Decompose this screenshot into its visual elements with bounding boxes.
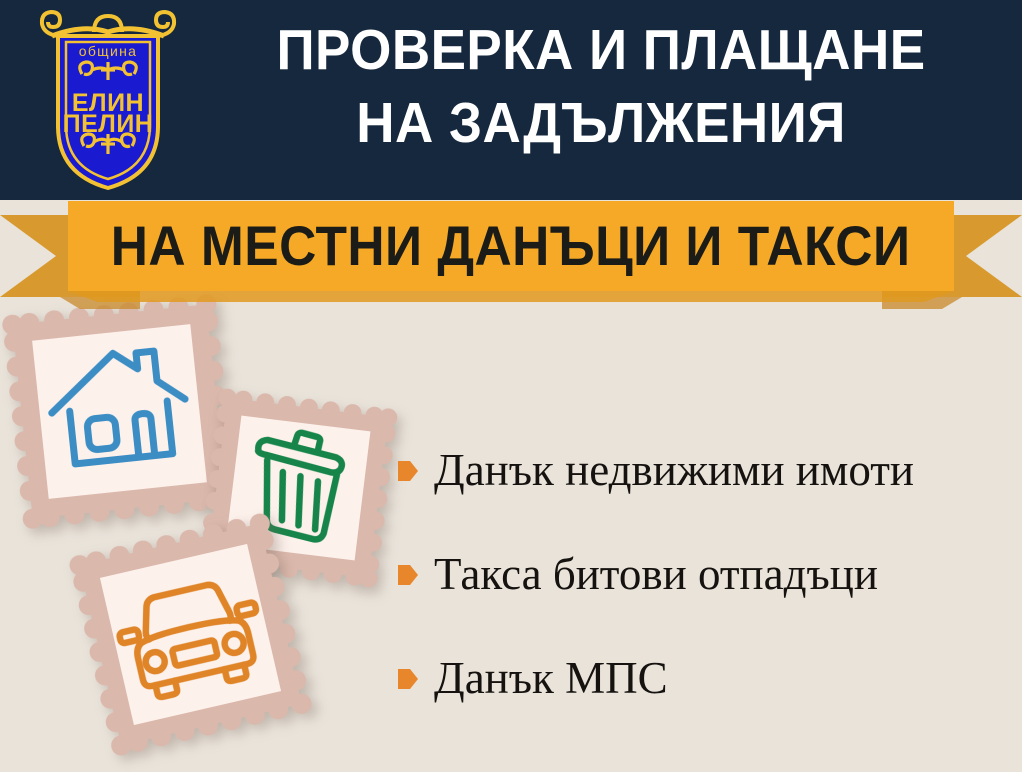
ribbon-text: НА МЕСТНИ ДАНЪЦИ И ТАКСИ bbox=[111, 217, 911, 275]
list-item-label: Данък недвижими имоти bbox=[434, 445, 914, 495]
page-title: ПРОВЕРКА И ПЛАЩАНЕ НА ЗАДЪЛЖЕНИЯ bbox=[224, 14, 977, 160]
list-item[interactable]: Данък МПС bbox=[398, 626, 1018, 730]
arrow-bullet-icon bbox=[398, 667, 418, 691]
coat-of-arms-icon: община ЕЛИН ПЕЛИН bbox=[28, 6, 188, 191]
arrow-bullet-icon bbox=[398, 563, 418, 587]
header-bar: община ЕЛИН ПЕЛИН ПРОВЕРКА И ПЛАЩАНЕ НА … bbox=[0, 0, 1022, 200]
list-item-label: Данък МПС bbox=[434, 653, 668, 703]
ribbon-banner-face: НА МЕСТНИ ДАНЪЦИ И ТАКСИ bbox=[68, 201, 954, 291]
tax-type-list: Данък недвижими имоти Такса битови отпад… bbox=[398, 418, 1018, 730]
ribbon-banner: НА МЕСТНИ ДАНЪЦИ И ТАКСИ bbox=[0, 196, 1022, 316]
list-item[interactable]: Данък недвижими имоти bbox=[398, 418, 1018, 522]
list-item[interactable]: Такса битови отпадъци bbox=[398, 522, 1018, 626]
arrow-bullet-icon bbox=[398, 459, 418, 483]
poster-canvas: община ЕЛИН ПЕЛИН ПРОВЕРКА И ПЛАЩАНЕ НА … bbox=[0, 0, 1022, 772]
list-item-label: Такса битови отпадъци bbox=[434, 549, 878, 599]
stamp-house bbox=[1, 293, 237, 529]
house-stamp-icon bbox=[1, 293, 237, 529]
logo-line-1: община bbox=[79, 43, 137, 59]
logo-line-3: ПЕЛИН bbox=[63, 110, 154, 138]
ribbon-banner-shadow bbox=[68, 291, 954, 302]
stamp-cluster bbox=[0, 300, 420, 772]
municipality-logo: община ЕЛИН ПЕЛИН bbox=[28, 6, 188, 191]
